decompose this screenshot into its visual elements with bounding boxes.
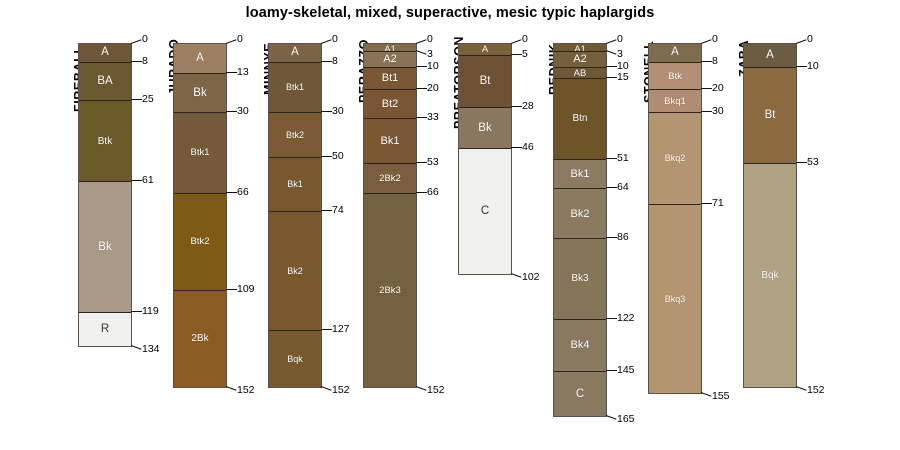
horizon-bk4: Bk4	[554, 319, 606, 371]
horizon-a2: A2	[364, 51, 416, 67]
horizon-label: Bt	[459, 75, 511, 87]
horizon-label: Btn	[554, 113, 606, 124]
horizon-label: A	[459, 44, 511, 55]
depth-tick-mark	[606, 318, 617, 319]
horizon-ab: AB	[554, 67, 606, 78]
horizon-bk2: Bk2	[269, 211, 321, 330]
horizon-a1: A1	[554, 44, 606, 51]
depth-tick-mark	[131, 345, 142, 350]
horizon-label: AB	[554, 68, 606, 78]
horizon-label: Btk	[79, 136, 131, 147]
horizon-label: A	[79, 46, 131, 58]
horizon-label: Bt2	[364, 98, 416, 110]
soil-profile-zaba: ZABAABtBqk01053152	[721, 0, 816, 450]
horizon-bt2: Bt2	[364, 89, 416, 118]
depth-tick-mark	[701, 39, 712, 44]
depth-tick-label: 8	[142, 56, 148, 66]
horizon-2bk2: 2Bk2	[364, 163, 416, 192]
horizon-label: Bk	[79, 241, 131, 253]
depth-tick-mark	[701, 61, 712, 62]
depth-tick-label: 8	[712, 56, 718, 66]
horizon-label: C	[554, 388, 606, 400]
soil-profile-preatorson: PREATORSONABtBkC052846102	[436, 0, 531, 450]
depth-tick-mark	[226, 111, 237, 112]
horizon-btk: Btk	[649, 62, 701, 89]
soil-profile-chart: loamy-skeletal, mixed, superactive, mesi…	[0, 0, 900, 450]
depth-tick-mark	[131, 61, 142, 62]
horizon-label: Bqk	[744, 270, 796, 281]
depth-tick-label: 152	[807, 385, 825, 395]
horizon-bt1: Bt1	[364, 67, 416, 90]
depth-tick-mark	[131, 39, 142, 44]
horizon-label: Bk2	[554, 208, 606, 220]
depth-tick-mark	[606, 77, 617, 78]
horizon-bk1: Bk1	[554, 159, 606, 188]
depth-tick-mark	[796, 66, 807, 67]
horizon-label: Btk1	[174, 147, 226, 158]
depth-tick-mark	[606, 39, 617, 44]
horizon-bk2: Bk2	[554, 188, 606, 238]
horizon-label: BA	[79, 75, 131, 87]
horizon-a1: A1	[364, 44, 416, 51]
horizon-2bk3: 2Bk3	[364, 193, 416, 387]
horizon-label: Bt	[744, 109, 796, 121]
depth-tick-label: 3	[617, 49, 623, 59]
depth-tick-mark	[226, 39, 237, 44]
depth-tick-mark	[701, 203, 712, 204]
horizon-2bk: 2Bk	[174, 290, 226, 387]
profile-bar: ABtk1Btk2Bk1Bk2Bqk	[268, 43, 322, 388]
horizon-bkq2: Bkq2	[649, 112, 701, 204]
soil-profile-stonell: STONELLABtkBkq1Bkq2Bkq308203071155	[626, 0, 721, 450]
horizon-label: A2	[554, 53, 606, 65]
depth-tick-mark	[796, 162, 807, 163]
depth-tick-mark	[606, 158, 617, 159]
depth-tick-mark	[511, 54, 522, 55]
horizon-label: Bk3	[554, 273, 606, 284]
profile-bar: ABtkBkq1Bkq2Bkq3	[648, 43, 702, 394]
horizon-label: Bkq2	[649, 153, 701, 163]
depth-tick-mark	[226, 72, 237, 73]
horizon-label: 2Bk	[174, 333, 226, 344]
depth-tick-mark	[321, 156, 332, 157]
horizon-label: Btk2	[269, 130, 321, 140]
depth-tick-mark	[701, 111, 712, 112]
depth-tick-mark	[131, 99, 142, 100]
depth-tick-mark	[606, 50, 617, 55]
horizon-bkq1: Bkq1	[649, 89, 701, 112]
depth-tick-mark	[226, 192, 237, 193]
depth-tick-mark	[131, 311, 142, 312]
depth-tick-mark	[511, 147, 522, 148]
horizon-label: A2	[364, 53, 416, 65]
depth-tick-mark	[416, 66, 427, 67]
soil-profile-jurado: JURADOABkBtk1Btk22Bk0133066109152	[151, 0, 246, 450]
horizon-label: Bkq3	[649, 294, 701, 304]
horizon-a: A	[174, 44, 226, 73]
depth-tick-mark	[606, 370, 617, 371]
depth-tick-mark	[416, 386, 427, 391]
depth-tick-mark	[321, 210, 332, 211]
horizon-bk: Bk	[174, 73, 226, 111]
horizon-label: Bqk	[269, 354, 321, 364]
depth-tick-mark	[511, 106, 522, 107]
horizon-label: Bk2	[269, 266, 321, 276]
horizon-btk1: Btk1	[269, 62, 321, 112]
horizon-a: A	[79, 44, 131, 62]
horizon-label: R	[79, 323, 131, 335]
horizon-label: C	[459, 205, 511, 217]
depth-tick-mark	[606, 415, 617, 420]
depth-tick-mark	[701, 392, 712, 397]
depth-tick-label: 0	[617, 34, 623, 44]
depth-tick-mark	[321, 111, 332, 112]
horizon-bk: Bk	[459, 107, 511, 148]
horizon-bt: Bt	[744, 67, 796, 164]
horizon-btk2: Btk2	[269, 112, 321, 157]
horizon-a: A	[459, 44, 511, 55]
profile-bar: ABtBkC	[458, 43, 512, 275]
depth-tick-mark	[416, 192, 427, 193]
horizon-label: Bkq1	[649, 96, 701, 107]
depth-tick-mark	[701, 88, 712, 89]
depth-tick-label: 0	[522, 34, 528, 44]
soil-profile-fireball: FIREBALLABABtkBkR082561119134	[56, 0, 151, 450]
horizon-label: Btk	[649, 71, 701, 82]
horizon-c: C	[554, 371, 606, 416]
depth-tick-mark	[606, 187, 617, 188]
depth-tick-mark	[416, 88, 427, 89]
depth-tick-mark	[321, 329, 332, 330]
soil-profile-minnye: MINNYEABtk1Btk2Bk1Bk2Bqk08305074127152	[246, 0, 341, 450]
horizon-label: Bk4	[554, 339, 606, 351]
profile-bar: ABABtkBkR	[78, 43, 132, 347]
horizon-btk1: Btk1	[174, 112, 226, 193]
depth-tick-label: 53	[807, 157, 819, 167]
horizon-bk: Bk	[79, 181, 131, 312]
depth-tick-label: 0	[332, 34, 338, 44]
horizon-label: Bk	[174, 87, 226, 99]
horizon-label: A	[269, 46, 321, 58]
depth-tick-label: 0	[427, 34, 433, 44]
horizon-ba: BA	[79, 62, 131, 100]
profile-bar: ABkBtk1Btk22Bk	[173, 43, 227, 388]
depth-tick-label: 8	[332, 56, 338, 66]
depth-tick-mark	[511, 39, 522, 44]
horizon-label: Bk1	[269, 179, 321, 189]
depth-tick-label: 0	[237, 34, 243, 44]
horizon-label: 2Bk3	[364, 285, 416, 296]
soil-profile-rednik: REDNIKA1A2ABBtnBk1Bk2Bk3Bk4C031015516486…	[531, 0, 626, 450]
depth-tick-mark	[606, 237, 617, 238]
horizon-a: A	[269, 44, 321, 62]
depth-tick-mark	[321, 39, 332, 44]
horizon-btn: Btn	[554, 78, 606, 159]
depth-tick-mark	[226, 289, 237, 290]
horizon-a: A	[744, 44, 796, 67]
horizon-label: Btk1	[269, 82, 321, 92]
depth-tick-mark	[321, 386, 332, 391]
horizon-label: Btk2	[174, 236, 226, 247]
depth-tick-mark	[226, 386, 237, 391]
depth-tick-mark	[416, 50, 427, 55]
depth-tick-label: 0	[807, 34, 813, 44]
horizon-bk3: Bk3	[554, 238, 606, 319]
horizon-bt: Bt	[459, 55, 511, 107]
horizon-label: A1	[364, 44, 416, 51]
horizon-label: Bt1	[364, 72, 416, 84]
horizon-a: A	[649, 44, 701, 62]
depth-tick-mark	[606, 66, 617, 67]
depth-tick-mark	[796, 386, 807, 391]
depth-tick-label: 5	[522, 49, 528, 59]
profile-bar: A1A2ABBtnBk1Bk2Bk3Bk4C	[553, 43, 607, 417]
depth-tick-mark	[416, 162, 427, 163]
horizon-label: Bk1	[554, 168, 606, 180]
soil-profile-perazzo: PERAZZOA1A2Bt1Bt2Bk12Bk22Bk3031020335366…	[341, 0, 436, 450]
depth-tick-mark	[321, 61, 332, 62]
horizon-label: Bk	[459, 122, 511, 134]
horizon-btk: Btk	[79, 100, 131, 181]
horizon-r: R	[79, 312, 131, 346]
depth-tick-label: 0	[142, 34, 148, 44]
depth-tick-label: 0	[712, 34, 718, 44]
depth-tick-mark	[796, 39, 807, 44]
horizon-bqk: Bqk	[269, 330, 321, 386]
depth-tick-mark	[416, 117, 427, 118]
depth-tick-mark	[416, 39, 427, 44]
horizon-label: A	[649, 46, 701, 58]
horizon-c: C	[459, 148, 511, 274]
depth-tick-mark	[511, 273, 522, 278]
horizon-label: A1	[554, 44, 606, 51]
horizon-a2: A2	[554, 51, 606, 67]
depth-tick-label: 3	[427, 49, 433, 59]
depth-tick-mark	[131, 180, 142, 181]
profile-bar: A1A2Bt1Bt2Bk12Bk22Bk3	[363, 43, 417, 388]
horizon-bk1: Bk1	[364, 118, 416, 163]
horizon-label: 2Bk2	[364, 173, 416, 184]
horizon-bk1: Bk1	[269, 157, 321, 211]
horizon-label: A	[744, 49, 796, 61]
profile-bar: ABtBqk	[743, 43, 797, 388]
horizon-btk2: Btk2	[174, 193, 226, 290]
horizon-label: Bk1	[364, 135, 416, 147]
horizon-bkq3: Bkq3	[649, 204, 701, 393]
horizon-bqk: Bqk	[744, 163, 796, 386]
depth-tick-label: 10	[807, 61, 819, 71]
horizon-label: A	[174, 52, 226, 64]
